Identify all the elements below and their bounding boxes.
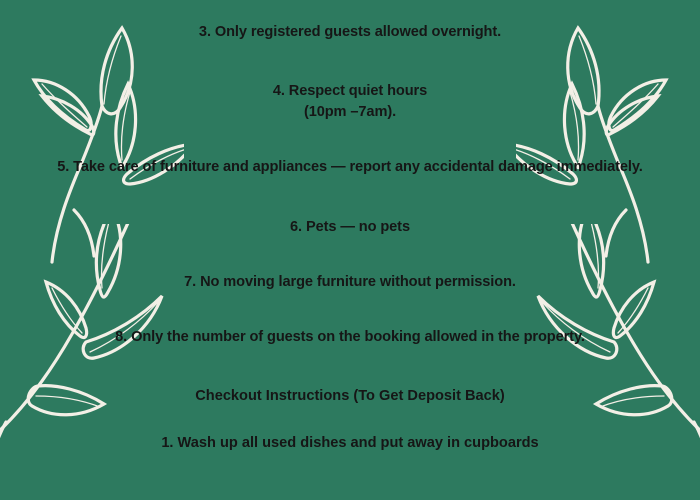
- spacer: [38, 43, 662, 81]
- spacer: [38, 348, 662, 386]
- rule-item-6: 6. Pets — no pets: [38, 217, 662, 238]
- rule-item-3: 3. Only registered guests allowed overni…: [38, 22, 662, 43]
- spacer: [38, 407, 662, 433]
- rules-text-block: 3. Only registered guests allowed overni…: [0, 0, 700, 500]
- rule-item-7: 7. No moving large furniture without per…: [38, 272, 662, 293]
- spacer: [38, 179, 662, 217]
- checkout-item-1-partial: 1. Wash up all used dishes and put away …: [38, 433, 662, 454]
- rule-item-8: 8. Only the number of guests on the book…: [38, 327, 662, 348]
- house-rules-poster: 3. Only registered guests allowed overni…: [0, 0, 700, 500]
- spacer: [38, 238, 662, 272]
- checkout-instructions-heading: Checkout Instructions (To Get Deposit Ba…: [38, 386, 662, 407]
- rule-item-5: 5. Take care of furniture and appliances…: [38, 157, 662, 178]
- spacer: [38, 293, 662, 327]
- spacer: [38, 123, 662, 157]
- rule-item-4: 4. Respect quiet hours (10pm –7am).: [38, 81, 662, 123]
